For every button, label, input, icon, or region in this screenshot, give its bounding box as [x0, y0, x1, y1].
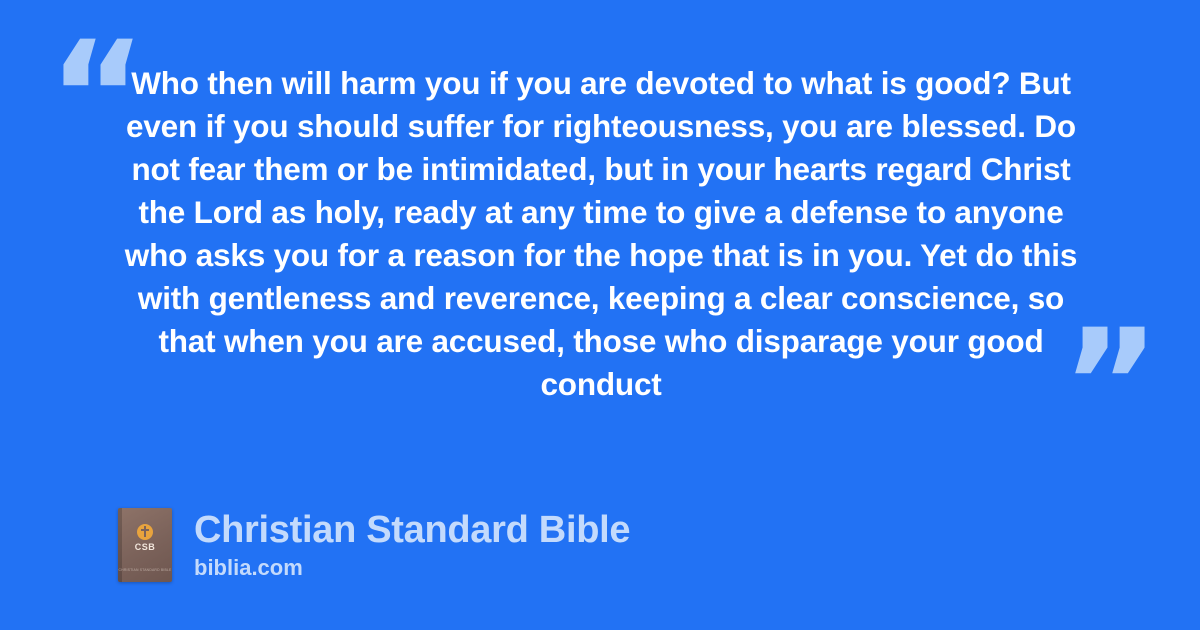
quote-card: “ ” Who then will harm you if you are de… [0, 0, 1200, 630]
cross-emblem-icon [137, 524, 153, 540]
quote-text: Who then will harm you if you are devote… [118, 62, 1084, 406]
book-cover-label: CSB [118, 542, 172, 552]
footer: CSB CHRISTIAN STANDARD BIBLE Christian S… [118, 508, 630, 582]
publisher-name: Christian Standard Bible [194, 508, 630, 552]
bible-cover-icon: CSB CHRISTIAN STANDARD BIBLE [118, 508, 172, 582]
book-cover-sublabel: CHRISTIAN STANDARD BIBLE [118, 568, 172, 573]
site-url[interactable]: biblia.com [194, 554, 630, 582]
footer-text: Christian Standard Bible biblia.com [194, 508, 630, 582]
quote-block: Who then will harm you if you are devote… [118, 62, 1084, 406]
